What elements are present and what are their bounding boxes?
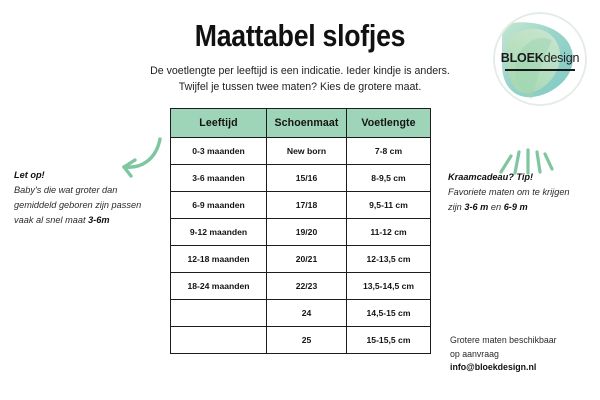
- cell-foot: 9,5-11 cm: [347, 192, 431, 219]
- table-row: 9-12 maanden 19/20 11-12 cm: [171, 219, 431, 246]
- cell-foot: 14,5-15 cm: [347, 300, 431, 327]
- cell-age: [171, 300, 267, 327]
- contact-info: Grotere maten beschikbaar op aanvraag in…: [450, 334, 600, 375]
- cell-foot: 15-15,5 cm: [347, 327, 431, 354]
- table-row: 25 15-15,5 cm: [171, 327, 431, 354]
- note-right-line-2: zijn 3-6 m en 6-9 m: [448, 200, 598, 215]
- cell-age: 6-9 maanden: [171, 192, 267, 219]
- contact-email[interactable]: info@bloekdesign.nl: [450, 361, 600, 375]
- note-left-line-3: vaak al snel maat 3-6m: [14, 213, 164, 228]
- cell-shoe: 24: [267, 300, 347, 327]
- page-title: Maattabel slofjes: [42, 18, 558, 54]
- table-row: 6-9 maanden 17/18 9,5-11 cm: [171, 192, 431, 219]
- note-right-line-1: Favoriete maten om te krijgen: [448, 185, 598, 200]
- note-left-line-2: gemiddeld geboren zijn passen: [14, 198, 164, 213]
- cell-age: 3-6 maanden: [171, 165, 267, 192]
- cell-age: [171, 327, 267, 354]
- size-chart-table: Leeftijd Schoenmaat Voetlengte 0-3 maand…: [170, 108, 431, 354]
- note-let-op: Let op! Baby's die wat groter dan gemidd…: [14, 168, 164, 228]
- logo-text-bold: BLOEK: [501, 51, 544, 65]
- column-header-schoenmaat: Schoenmaat: [267, 109, 347, 138]
- cell-age: 9-12 maanden: [171, 219, 267, 246]
- cell-age: 12-18 maanden: [171, 246, 267, 273]
- table-row: 18-24 maanden 22/23 13,5-14,5 cm: [171, 273, 431, 300]
- note-left-line-3-text: vaak al snel maat: [14, 215, 88, 225]
- table-row: 3-6 maanden 15/16 8-9,5 cm: [171, 165, 431, 192]
- bloekdesign-logo: BLOEKdesign: [492, 11, 588, 107]
- note-left-size-highlight: 3-6m: [88, 215, 109, 225]
- note-right-line-2-mid: en: [488, 202, 503, 212]
- column-header-leeftijd: Leeftijd: [171, 109, 267, 138]
- cell-shoe: 20/21: [267, 246, 347, 273]
- note-left-heading: Let op!: [14, 168, 164, 183]
- cell-shoe: New born: [267, 138, 347, 165]
- note-left-line-1: Baby's die wat groter dan: [14, 183, 164, 198]
- cell-foot: 8-9,5 cm: [347, 165, 431, 192]
- cell-age: 0-3 maanden: [171, 138, 267, 165]
- cell-foot: 13,5-14,5 cm: [347, 273, 431, 300]
- cell-foot: 12-13,5 cm: [347, 246, 431, 273]
- cell-shoe: 17/18: [267, 192, 347, 219]
- cell-age: 18-24 maanden: [171, 273, 267, 300]
- table-row: 12-18 maanden 20/21 12-13,5 cm: [171, 246, 431, 273]
- logo-text-light: design: [544, 51, 580, 65]
- note-kraamcadeau: Kraamcadeau? Tip! Favoriete maten om te …: [448, 170, 598, 215]
- contact-line-1: Grotere maten beschikbaar: [450, 334, 600, 348]
- note-right-size-highlight-2: 6-9 m: [504, 202, 528, 212]
- column-header-voetlengte: Voetlengte: [347, 109, 431, 138]
- cell-foot: 7-8 cm: [347, 138, 431, 165]
- table-header-row: Leeftijd Schoenmaat Voetlengte: [171, 109, 431, 138]
- cell-foot: 11-12 cm: [347, 219, 431, 246]
- cell-shoe: 15/16: [267, 165, 347, 192]
- cell-shoe: 19/20: [267, 219, 347, 246]
- note-right-line-2-pre: zijn: [448, 202, 464, 212]
- logo-text: BLOEKdesign: [492, 51, 588, 65]
- cell-shoe: 25: [267, 327, 347, 354]
- cell-shoe: 22/23: [267, 273, 347, 300]
- contact-line-2: op aanvraag: [450, 348, 600, 362]
- note-right-heading: Kraamcadeau? Tip!: [448, 170, 598, 185]
- note-right-size-highlight-1: 3-6 m: [464, 202, 488, 212]
- logo-underline: [505, 69, 575, 71]
- table-row: 0-3 maanden New born 7-8 cm: [171, 138, 431, 165]
- table-row: 24 14,5-15 cm: [171, 300, 431, 327]
